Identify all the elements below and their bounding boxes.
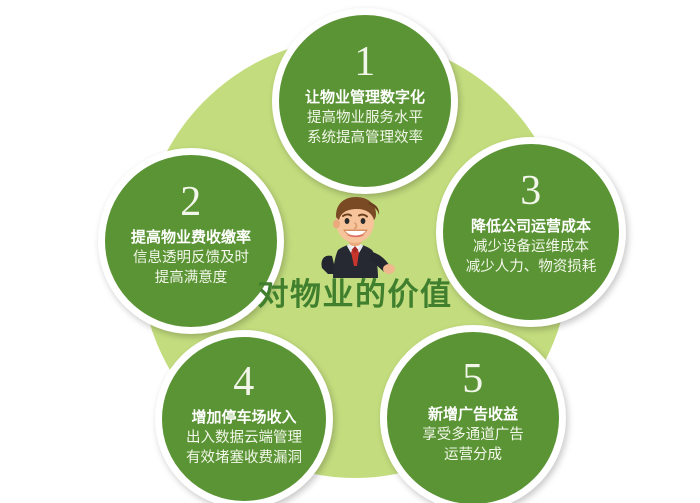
node-desc-4-line-2: 有效堵塞收费漏洞 (186, 448, 302, 468)
node-title-4: 增加停车场收入 (191, 409, 296, 428)
node-desc-3-line-1: 减少设备运维成本 (473, 237, 589, 257)
node-desc-3-line-2: 减少人力、物资损耗 (466, 257, 597, 277)
node-title-1: 让物业管理数字化 (305, 89, 425, 108)
node-desc-1-line-2: 系统提高管理效率 (307, 128, 423, 148)
node-number-2: 2 (180, 181, 202, 223)
center-block: 对物业的价值 (230, 190, 480, 310)
node-number-3: 3 (520, 170, 542, 212)
node-circle-5[interactable]: 5 新增广告收益 享受多通道广告 运营分成 (380, 325, 566, 503)
node-number-5: 5 (462, 358, 484, 400)
node-desc-5-line-2: 运营分成 (444, 445, 502, 465)
infographic-canvas: 1 让物业管理数字化 提高物业服务水平 系统提高管理效率 2 提高物业费收缴率 … (0, 0, 700, 503)
center-title: 对物业的价值 (258, 279, 453, 310)
node-number-1: 1 (354, 41, 376, 83)
node-number-4: 4 (233, 361, 255, 403)
node-circle-1[interactable]: 1 让物业管理数字化 提高物业服务水平 系统提高管理效率 (272, 8, 458, 194)
node-title-5: 新增广告收益 (428, 406, 518, 425)
node-title-3: 降低公司运营成本 (471, 218, 591, 237)
node-circle-4[interactable]: 4 增加停车场收入 出入数据云端管理 有效堵塞收费漏洞 (155, 330, 333, 503)
node-desc-1-line-1: 提高物业服务水平 (307, 108, 423, 128)
node-desc-5-line-1: 享受多通道广告 (422, 425, 524, 445)
node-desc-2-line-2: 提高满意度 (155, 268, 228, 288)
node-desc-4-line-1: 出入数据云端管理 (186, 428, 302, 448)
